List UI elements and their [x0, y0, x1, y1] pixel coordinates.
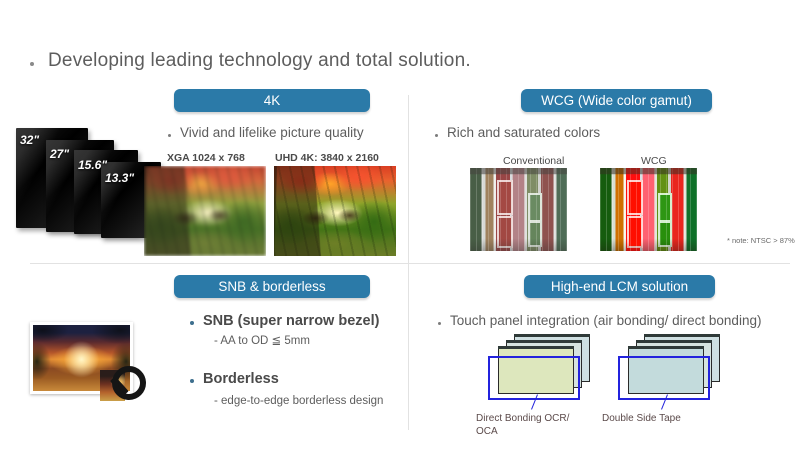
door-panel — [627, 180, 643, 216]
bonding-stack-direct — [488, 334, 600, 396]
magnifier-ring — [112, 366, 146, 400]
bullet-touch-panel-text: Touch panel integration (air bonding/ di… — [450, 313, 761, 328]
highlight-box — [618, 356, 710, 400]
caption-xga: XGA 1024 x 768 — [167, 152, 245, 164]
facade-image-vivid — [600, 168, 697, 251]
highlight-box — [488, 356, 580, 400]
pill-4k[interactable]: 4K — [174, 89, 370, 112]
bullet-dot-icon — [30, 62, 34, 66]
garden-photo-xga — [144, 166, 266, 256]
panel-edge-top — [628, 346, 704, 349]
bullet-dot-icon — [435, 134, 438, 137]
facade-image-dull — [470, 168, 567, 251]
borderless-heading-text: Borderless — [203, 371, 279, 387]
caption-wcg: WCG — [641, 155, 667, 167]
tv-size-label-27: 27" — [50, 147, 69, 161]
door-panel — [658, 193, 672, 222]
facade-photo-conventional — [470, 168, 567, 251]
door-panel — [497, 216, 513, 248]
magnifier-icon — [100, 366, 150, 418]
bullet-dot-icon — [168, 134, 171, 137]
snb-heading-text: SNB (super narrow bezel) — [203, 313, 379, 329]
snb-item-heading: SNB (super narrow bezel) — [190, 313, 379, 329]
pill-snb-borderless[interactable]: SNB & borderless — [174, 275, 370, 298]
vertical-divider — [408, 95, 409, 430]
door-panel — [658, 221, 672, 247]
horizontal-divider — [30, 263, 790, 264]
bullet-wcg-colors-text: Rich and saturated colors — [447, 125, 600, 140]
garden-photo-uhd — [274, 166, 396, 256]
door-panel — [528, 193, 542, 222]
bullet-dot-icon — [438, 322, 441, 325]
bullet-dot-icon — [190, 321, 194, 325]
door-panel — [627, 216, 643, 248]
wcg-note: * note: NTSC > 87% — [727, 236, 795, 245]
label-direct-bonding: Direct Bonding OCR/ OCA — [476, 412, 586, 438]
borderless-item-heading: Borderless — [190, 371, 279, 387]
garden-image-sharp — [274, 166, 396, 256]
panel-edge-top — [514, 334, 590, 337]
bullet-4k-quality-text: Vivid and lifelike picture quality — [180, 125, 364, 140]
facade-photo-wcg — [600, 168, 697, 251]
bullet-wcg-colors: Rich and saturated colors — [435, 125, 600, 141]
snb-item-sub: - AA to OD ≦ 5mm — [214, 333, 310, 347]
bullet-4k-quality: Vivid and lifelike picture quality — [168, 125, 364, 141]
borderless-item-sub: - edge-to-edge borderless design — [214, 395, 383, 407]
bonding-stack-tape — [618, 334, 730, 396]
page-title: Developing leading technology and total … — [30, 50, 471, 72]
tv-size-label-15-6: 15.6" — [78, 158, 107, 172]
panel-edge-top — [498, 346, 574, 349]
pill-wcg[interactable]: WCG (Wide color gamut) — [521, 89, 712, 112]
label-double-side-tape: Double Side Tape — [602, 412, 722, 425]
pill-lcm-solution[interactable]: High-end LCM solution — [524, 275, 715, 298]
tv-size-label-13-3: 13.3" — [105, 171, 134, 185]
door-panel — [528, 221, 542, 247]
tv-size-label-32: 32" — [20, 133, 39, 147]
panel-edge-top — [506, 340, 582, 343]
bullet-touch-panel: Touch panel integration (air bonding/ di… — [438, 313, 761, 329]
caption-uhd: UHD 4K: 3840 x 2160 — [275, 152, 379, 164]
lcm-diagram: Direct Bonding OCR/ OCA Double Side Tape — [450, 330, 750, 445]
slide-canvas: Developing leading technology and total … — [0, 0, 800, 450]
door-panel — [497, 180, 513, 216]
bullet-dot-icon — [190, 379, 194, 383]
panel-edge-top — [636, 340, 712, 343]
panel-edge-top — [644, 334, 720, 337]
page-title-text: Developing leading technology and total … — [48, 50, 471, 72]
caption-conventional: Conventional — [503, 155, 564, 167]
garden-image-soft — [144, 166, 266, 256]
